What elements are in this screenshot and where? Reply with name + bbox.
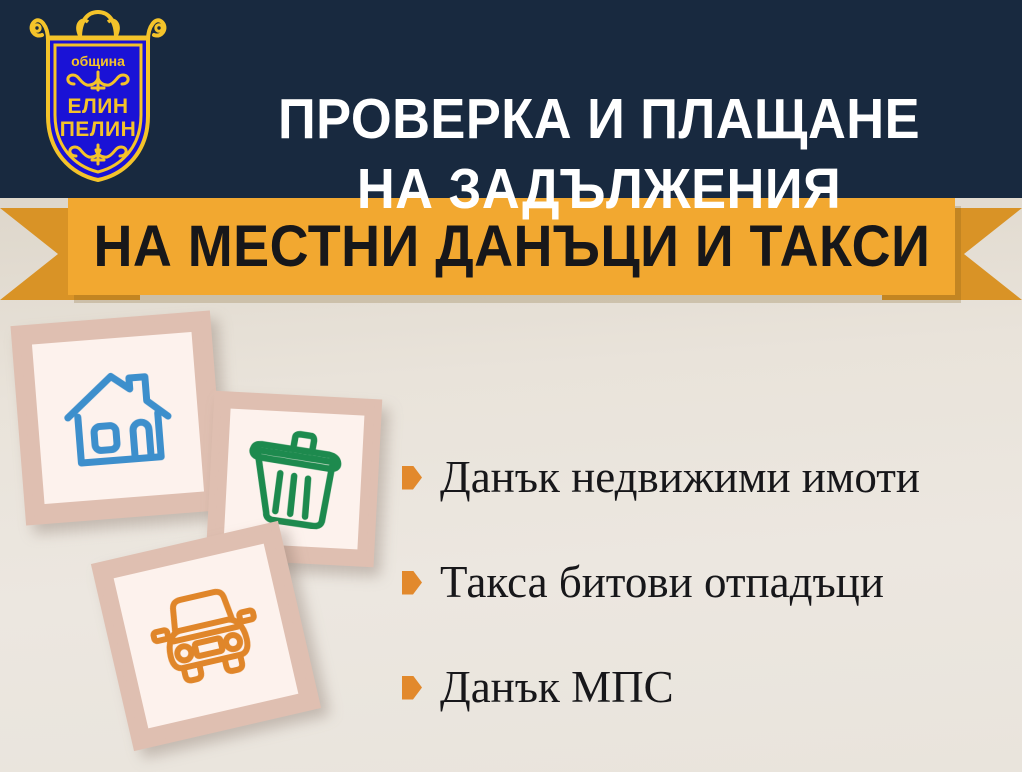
page-title: ПРОВЕРКА И ПЛАЩАНЕ НА ЗАДЪЛЖЕНИЯ [219,14,979,294]
crest-municipality-word: община [71,53,125,69]
page-title-line2: НА ЗАДЪЛЖЕНИЯ [219,154,979,224]
crest-name-line2: ПЕЛИН [60,118,137,141]
crest-name-line1: ЕЛИН [67,95,128,118]
tax-type-list: Данък недвижими имоти Такса битови отпад… [402,424,1012,739]
arrow-bullet-icon [402,571,422,595]
list-item-label: Данък МПС [440,662,674,712]
house-icon [58,362,178,474]
arrow-bullet-icon [402,676,422,700]
arrow-bullet-icon [402,466,422,490]
car-front-icon [142,579,270,693]
stamp-paper-area [32,332,204,504]
list-item[interactable]: Данък недвижими имоти [402,424,1012,529]
poster-canvas: ПРОВЕРКА И ПЛАЩАНЕ НА ЗАДЪЛЖЕНИЯ община [0,0,1022,772]
list-item[interactable]: Такса битови отпадъци [402,529,1012,634]
page-title-line1: ПРОВЕРКА И ПЛАЩАНЕ [278,87,920,151]
trash-bin-icon [244,428,345,531]
list-item[interactable]: Данък МПС [402,634,1012,739]
stamp-paper-area [114,544,299,729]
list-item-label: Такса битови отпадъци [440,557,884,607]
crest-shield-icon: община ЕЛИН ПЕЛИН [22,8,174,190]
stamp-card-property-tax [10,310,225,525]
list-item-label: Данък недвижими имоти [440,452,920,502]
municipality-crest-logo: община ЕЛИН ПЕЛИН [22,8,174,190]
